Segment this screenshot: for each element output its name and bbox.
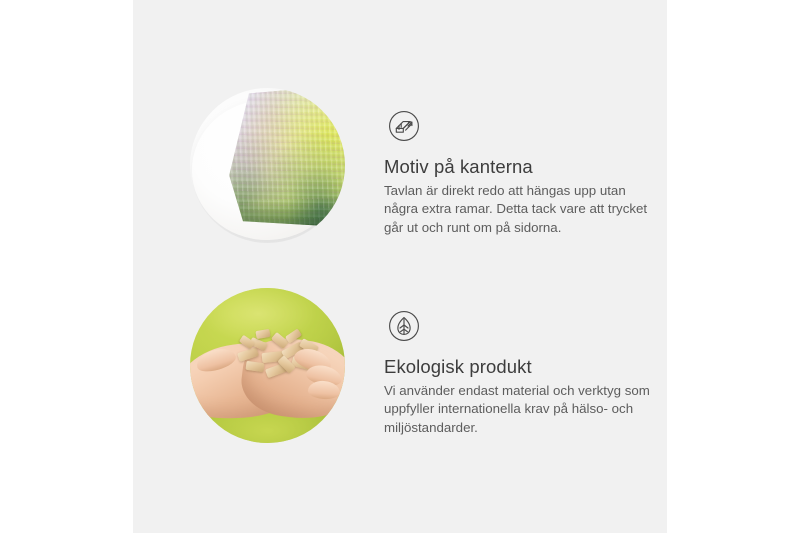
product-feature-banner: Motiv på kanterna Tavlan är direkt redo … <box>0 0 800 533</box>
canvas-print-corner-photo <box>190 88 345 243</box>
feature-title: Motiv på kanterna <box>384 156 533 178</box>
feature-description: Tavlan är direkt redo att hängas upp uta… <box>384 182 652 237</box>
feature-panel: Motiv på kanterna Tavlan är direkt redo … <box>133 0 667 533</box>
feature-title: Ekologisk produkt <box>384 356 532 378</box>
canvas-wrap-icon <box>384 106 424 146</box>
hands-holding-wood-chips-photo <box>190 288 345 443</box>
feature-description: Vi använder endast material och verktyg … <box>384 382 652 437</box>
leaf-icon <box>384 306 424 346</box>
